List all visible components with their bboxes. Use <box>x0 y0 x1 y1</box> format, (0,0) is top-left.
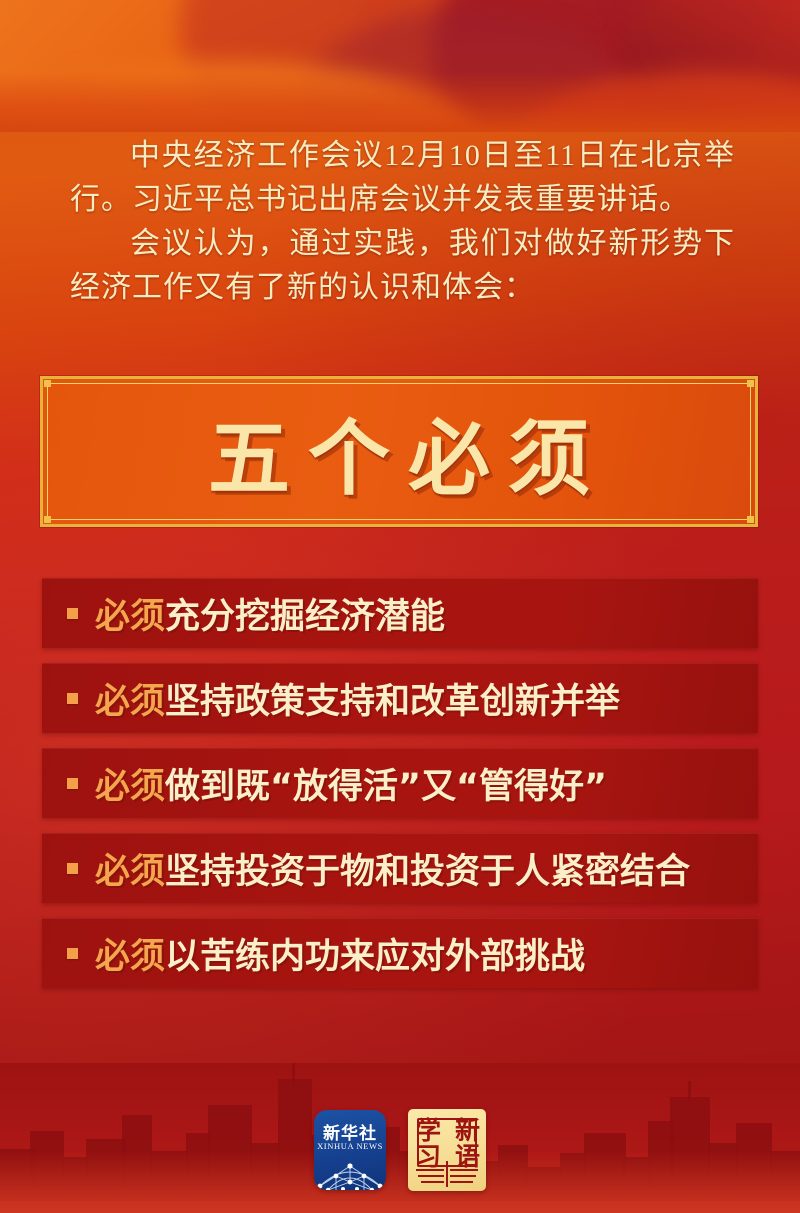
list-item-text: 必须坚持政策支持和改革创新并举 <box>95 673 620 724</box>
intro-paragraph-1: 中央经济工作会议12月10日至11日在北京举行。习近平总书记出席会议并发表重要讲… <box>70 134 735 222</box>
intro-paragraph-2: 会议认为，通过实践，我们对做好新形势下经济工作又有了新的认识和体会： <box>70 222 735 310</box>
list-item-rest: 坚持政策支持和改革创新并举 <box>165 682 620 722</box>
antenna-spire <box>688 1081 691 1101</box>
silk-fade <box>0 72 800 132</box>
list-item: 必须坚持投资于物和投资于人紧密结合 <box>42 833 758 903</box>
square-bullet-icon <box>67 863 78 874</box>
list-item-rest: 做到既“放得活”又“管得好” <box>165 767 607 807</box>
list-item: 必须以苦练内功来应对外部挑战 <box>42 918 758 988</box>
list-item-highlight: 必须 <box>95 852 165 892</box>
poster-canvas: 中央经济工作会议12月10日至11日在北京举行。习近平总书记出席会议并发表重要讲… <box>0 0 800 1213</box>
book-page-line <box>416 1169 444 1171</box>
list-item-highlight: 必须 <box>95 682 165 722</box>
list-item-rest: 以苦练内功来应对外部挑战 <box>165 937 585 977</box>
intro-text-block: 中央经济工作会议12月10日至11日在北京举行。习近平总书记出席会议并发表重要讲… <box>70 134 735 310</box>
xuexi-xinyu-logo[interactable]: 学习 新语 <box>408 1109 486 1191</box>
square-bullet-icon <box>67 608 78 619</box>
antenna-spire <box>292 1063 295 1085</box>
book-page-line <box>450 1181 473 1183</box>
square-bullet-icon <box>67 948 78 959</box>
book-page-line <box>418 1175 444 1177</box>
list-item: 必须坚持政策支持和改革创新并举 <box>42 663 758 733</box>
xinhua-logo-en-text: XINHUA NEWS <box>314 1141 386 1151</box>
list-item-highlight: 必须 <box>95 597 165 637</box>
list-item-rest: 坚持投资于物和投资于人紧密结合 <box>165 852 690 892</box>
list-item-text: 必须以苦练内功来应对外部挑战 <box>95 928 585 979</box>
list-item-rest: 充分挖掘经济潜能 <box>165 597 445 637</box>
book-spine <box>446 1161 448 1187</box>
book-page-line <box>450 1175 476 1177</box>
square-bullet-icon <box>67 693 78 704</box>
list-item-highlight: 必须 <box>95 937 165 977</box>
silk-drape-banner <box>0 0 800 132</box>
list-item: 必须充分挖掘经济潜能 <box>42 578 758 648</box>
xuexi-line-2: 新语 <box>447 1118 486 1170</box>
list-item-text: 必须充分挖掘经济潜能 <box>95 588 445 639</box>
book-page-line <box>450 1169 478 1171</box>
network-globe-icon <box>314 1152 386 1190</box>
list-item-text: 必须坚持投资于物和投资于人紧密结合 <box>95 843 690 894</box>
headline-plaque: 五个必须 <box>40 376 758 527</box>
list-item-text: 必须做到既“放得活”又“管得好” <box>95 758 607 809</box>
requirement-list: 必须充分挖掘经济潜能 必须坚持政策支持和改革创新并举 必须做到既“放得活”又“管… <box>42 578 758 1003</box>
square-bullet-icon <box>67 778 78 789</box>
page-title: 五个必须 <box>43 379 755 524</box>
book-page-line <box>421 1181 444 1183</box>
xuexi-line-1: 学习 <box>408 1118 447 1170</box>
list-item: 必须做到既“放得活”又“管得好” <box>42 748 758 818</box>
footer-logos: 新华社 XINHUA NEWS <box>0 1109 800 1191</box>
list-item-highlight: 必须 <box>95 767 165 807</box>
xinhua-news-logo[interactable]: 新华社 XINHUA NEWS <box>314 1110 386 1190</box>
